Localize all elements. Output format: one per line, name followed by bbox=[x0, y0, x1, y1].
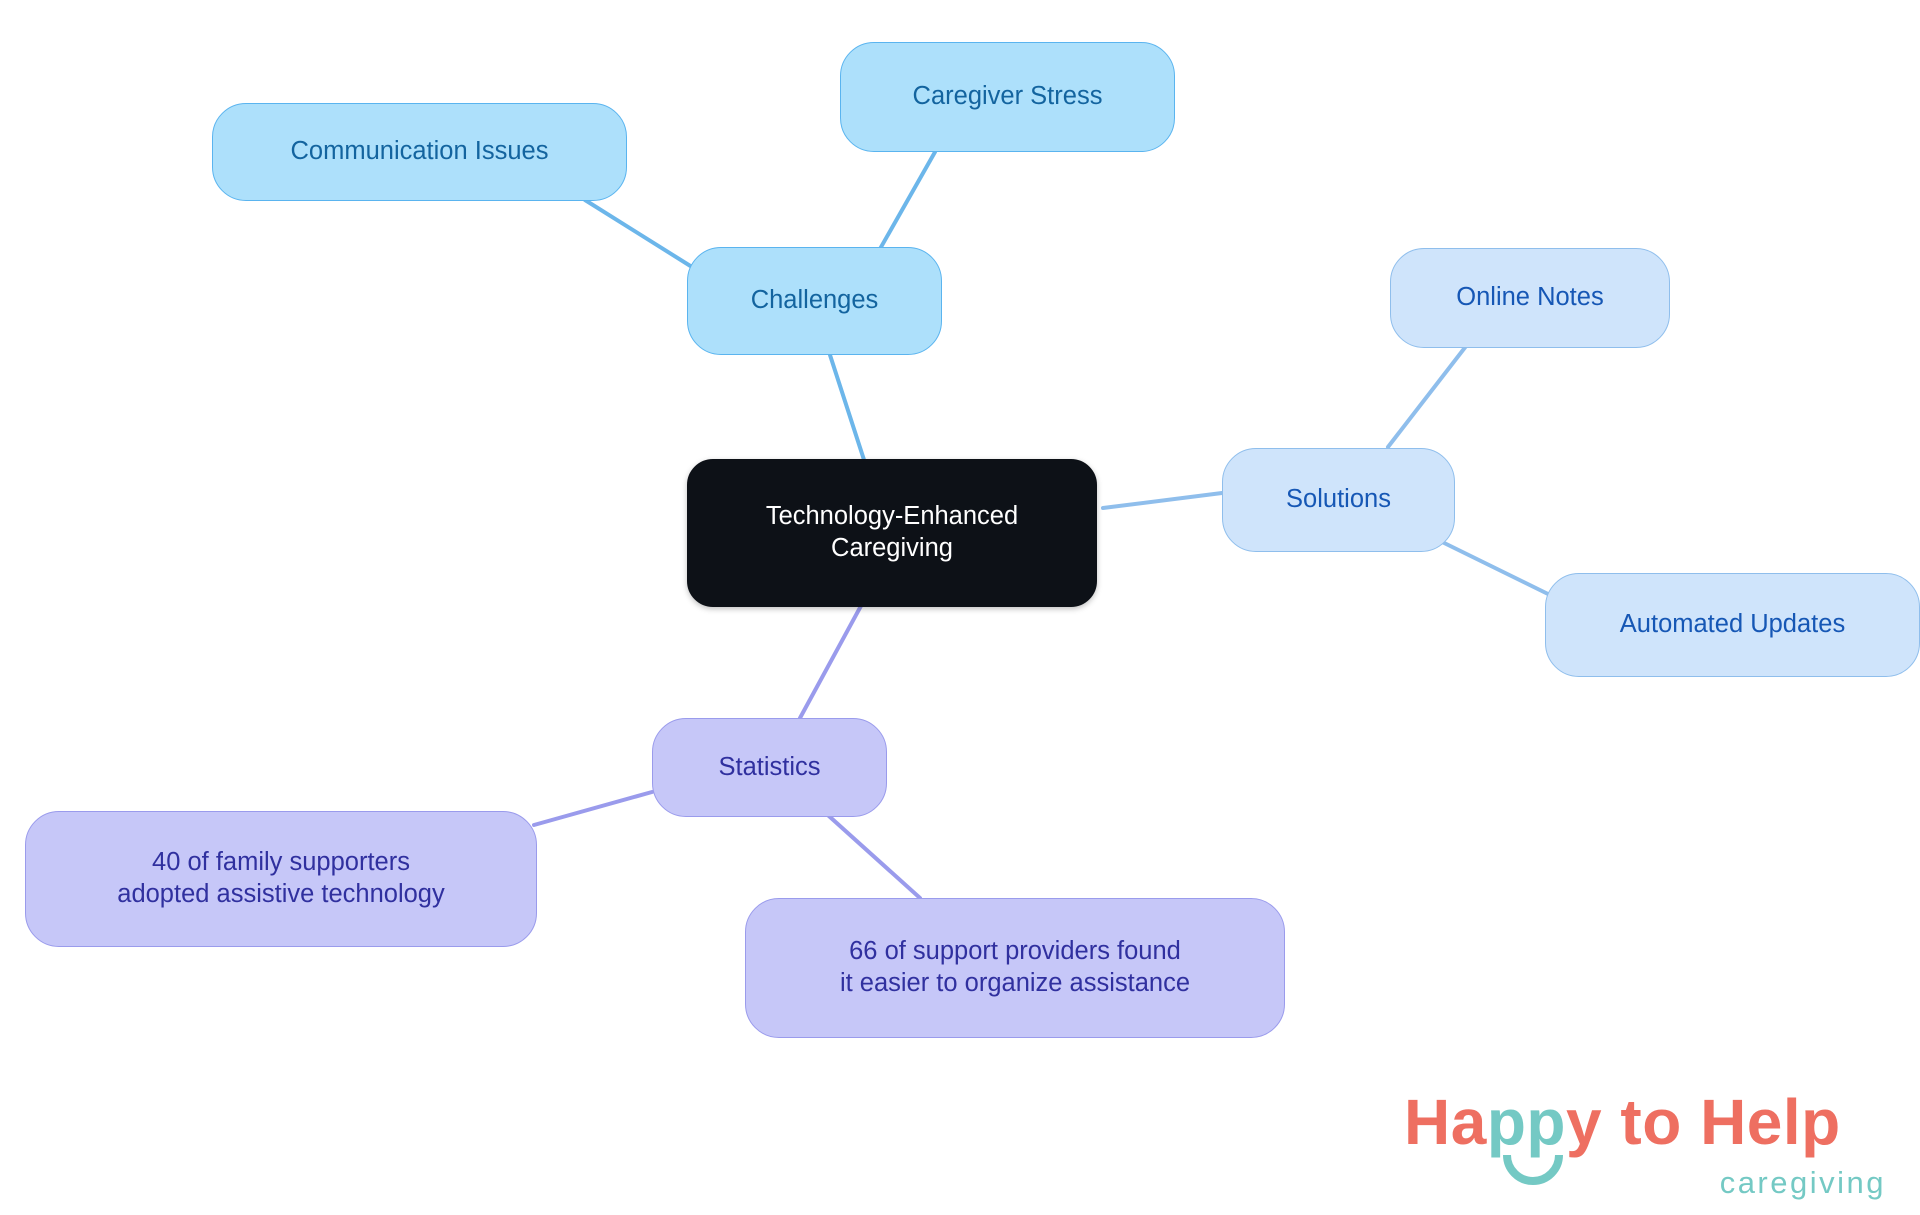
logo-word-part1: Ha bbox=[1404, 1086, 1487, 1158]
edge-solutions-online-notes bbox=[1388, 341, 1470, 447]
logo-wordmark: Happy to Help bbox=[1404, 1085, 1841, 1159]
mindmap-node-challenges[interactable]: Challenges bbox=[687, 247, 942, 355]
mindmap-node-automated-updates[interactable]: Automated Updates bbox=[1545, 573, 1920, 677]
edge-challenges-communication-issues bbox=[585, 200, 700, 272]
mindmap-node-stat-family-supporters[interactable]: 40 of family supporters adopted assistiv… bbox=[25, 811, 537, 947]
mindmap-node-solutions[interactable]: Solutions bbox=[1222, 448, 1455, 552]
edge-root-statistics bbox=[800, 604, 862, 718]
edge-root-challenges bbox=[830, 355, 866, 466]
mindmap-canvas: Technology-Enhanced Caregiving Challenge… bbox=[0, 0, 1920, 1215]
mindmap-node-stat-support-providers[interactable]: 66 of support providers found it easier … bbox=[745, 898, 1285, 1038]
edge-solutions-automated-updates bbox=[1432, 537, 1548, 594]
mindmap-node-root[interactable]: Technology-Enhanced Caregiving bbox=[687, 459, 1097, 607]
mindmap-node-online-notes[interactable]: Online Notes bbox=[1390, 248, 1670, 348]
smile-icon bbox=[1502, 1153, 1564, 1187]
brand-logo: Happy to Help caregiving bbox=[1404, 1085, 1904, 1205]
edge-root-solutions bbox=[1103, 493, 1222, 508]
edge-statistics-stat-family-supporters bbox=[534, 792, 652, 825]
logo-word-pp: pp bbox=[1487, 1086, 1566, 1158]
mindmap-node-statistics[interactable]: Statistics bbox=[652, 718, 887, 817]
mindmap-node-communication-issues[interactable]: Communication Issues bbox=[212, 103, 627, 201]
logo-subtitle: caregiving bbox=[1720, 1165, 1886, 1201]
logo-word-part2: y to Help bbox=[1566, 1086, 1841, 1158]
mindmap-node-caregiver-stress[interactable]: Caregiver Stress bbox=[840, 42, 1175, 152]
